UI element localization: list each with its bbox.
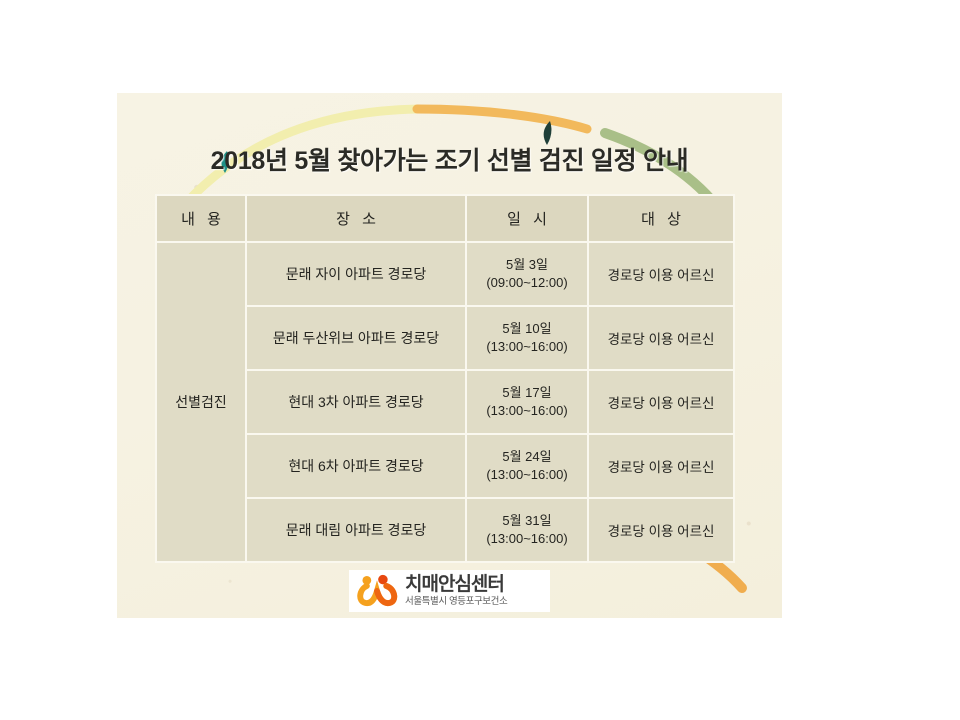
date-day: 5월 17일 — [467, 384, 587, 402]
column-header-place: 장 소 — [246, 195, 466, 242]
date-time: (13:00~16:00) — [467, 338, 587, 356]
date-day: 5월 24일 — [467, 448, 587, 466]
logo-title: 치매안심센터 — [405, 575, 507, 594]
table-header-row: 내 용 장 소 일 시 대 상 — [156, 195, 734, 242]
date-time: (13:00~16:00) — [467, 402, 587, 420]
date-day: 5월 3일 — [467, 256, 587, 274]
date-time: (09:00~12:00) — [467, 274, 587, 292]
place-cell: 현대 3차 아파트 경로당 — [246, 370, 466, 434]
logo-text-block: 치매안심센터 서울특별시 영등포구보건소 — [405, 575, 507, 607]
category-cell: 선별검진 — [156, 242, 246, 562]
page-title: 2018년 5월 찾아가는 조기 선별 검진 일정 안내 — [117, 141, 782, 177]
place-cell: 문래 두산위브 아파트 경로당 — [246, 306, 466, 370]
date-day: 5월 10일 — [467, 320, 587, 338]
target-cell: 경로당 이용 어르신 — [588, 434, 734, 498]
date-cell: 5월 17일 (13:00~16:00) — [466, 370, 588, 434]
target-cell: 경로당 이용 어르신 — [588, 306, 734, 370]
arc-segment-orange — [417, 109, 587, 129]
column-header-content: 내 용 — [156, 195, 246, 242]
place-cell: 현대 6차 아파트 경로당 — [246, 434, 466, 498]
place-cell: 문래 대림 아파트 경로당 — [246, 498, 466, 562]
place-cell: 문래 자이 아파트 경로당 — [246, 242, 466, 306]
dementia-care-center-logo-icon — [355, 574, 399, 608]
date-cell: 5월 10일 (13:00~16:00) — [466, 306, 588, 370]
organization-logo: 치매안심센터 서울특별시 영등포구보건소 — [349, 570, 550, 612]
target-cell: 경로당 이용 어르신 — [588, 498, 734, 562]
target-cell: 경로당 이용 어르신 — [588, 242, 734, 306]
date-cell: 5월 31일 (13:00~16:00) — [466, 498, 588, 562]
table-row: 선별검진 문래 자이 아파트 경로당 5월 3일 (09:00~12:00) 경… — [156, 242, 734, 306]
date-cell: 5월 3일 (09:00~12:00) — [466, 242, 588, 306]
logo-subtitle: 서울특별시 영등포구보건소 — [405, 597, 507, 607]
schedule-table: 내 용 장 소 일 시 대 상 선별검진 문래 자이 아파트 경로당 5월 3일… — [155, 194, 735, 563]
date-time: (13:00~16:00) — [467, 530, 587, 548]
target-cell: 경로당 이용 어르신 — [588, 370, 734, 434]
date-day: 5월 31일 — [467, 512, 587, 530]
slide-panel: 2018년 5월 찾아가는 조기 선별 검진 일정 안내 내 용 장 소 일 시… — [117, 93, 782, 618]
column-header-datetime: 일 시 — [466, 195, 588, 242]
column-header-target: 대 상 — [588, 195, 734, 242]
date-time: (13:00~16:00) — [467, 466, 587, 484]
date-cell: 5월 24일 (13:00~16:00) — [466, 434, 588, 498]
